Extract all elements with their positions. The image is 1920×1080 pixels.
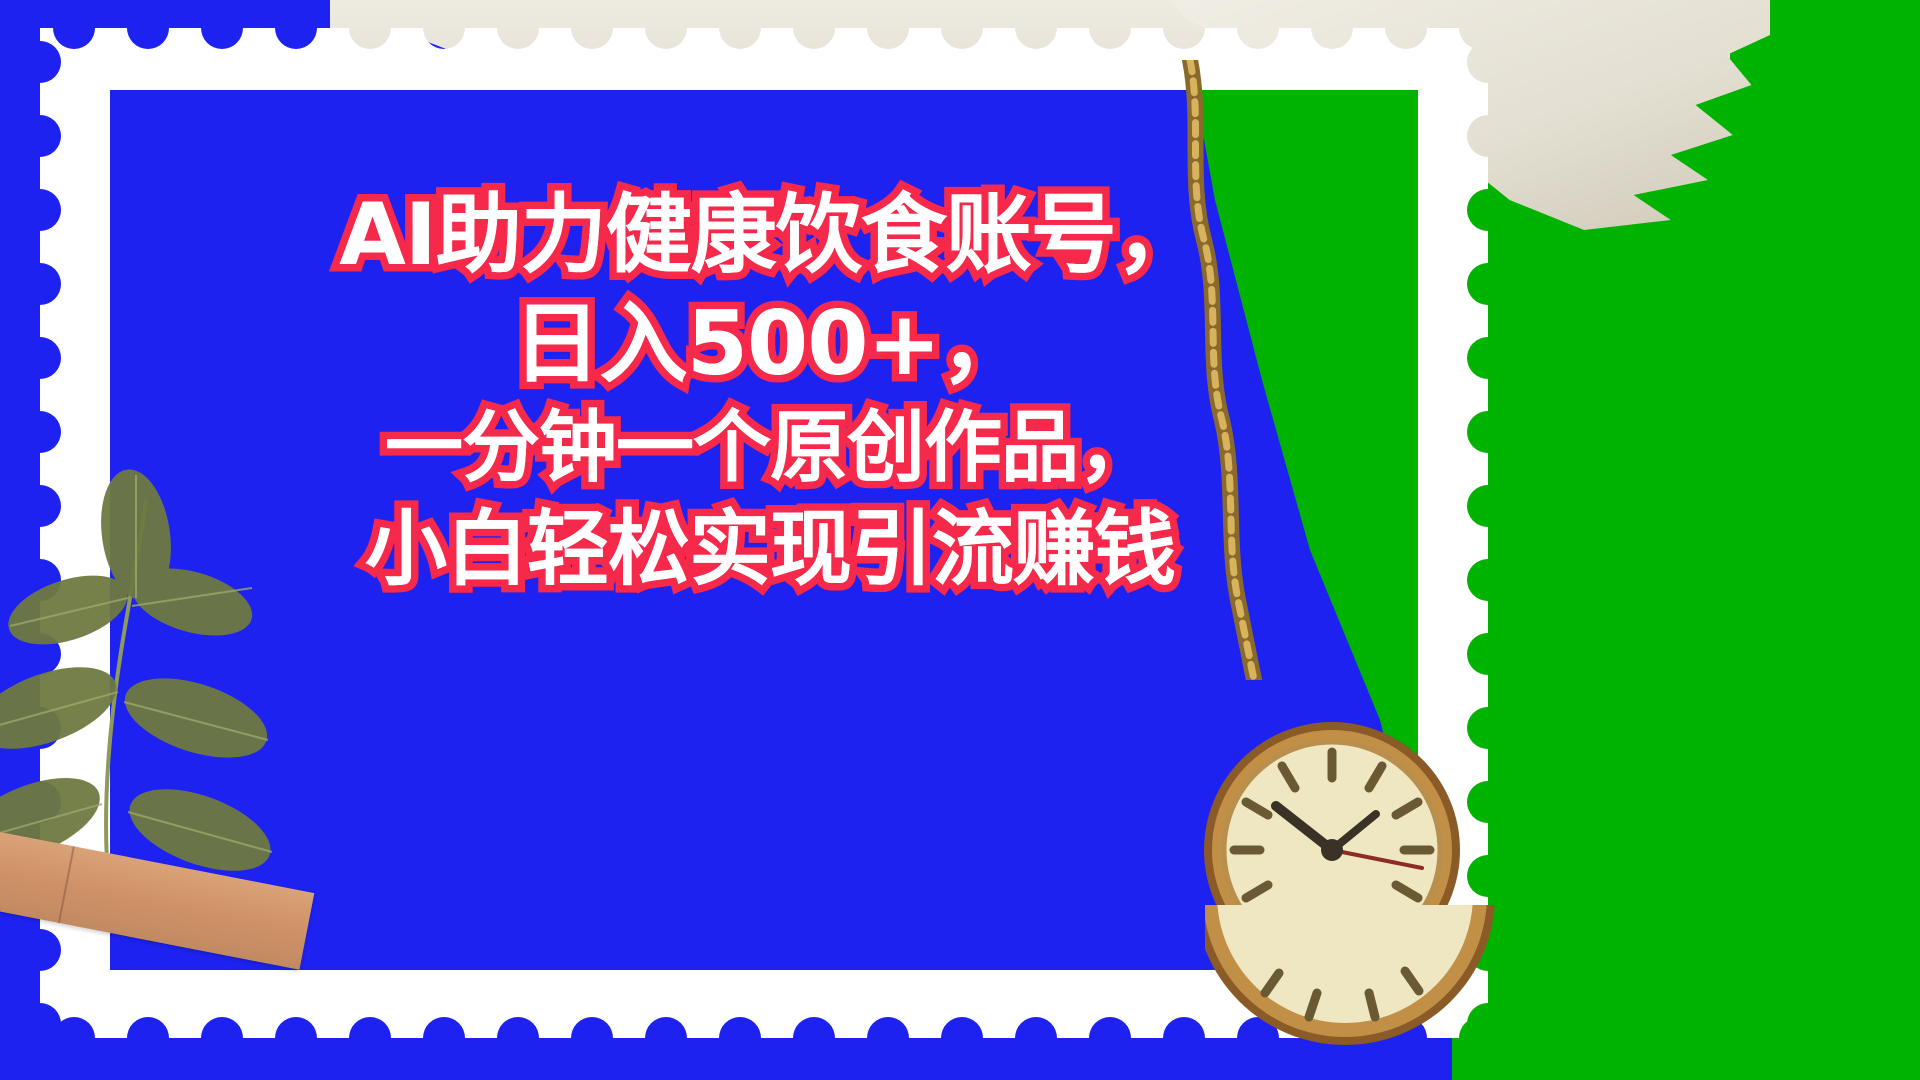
pocket-watch-lower-icon <box>1205 905 1495 1080</box>
headline-line-3: 一分钟一个原创作品， <box>190 398 1350 498</box>
headline-line-2: 日入500+， <box>190 290 1350 398</box>
headline-line-1: AI助力健康饮食账号， <box>190 180 1350 290</box>
headline-block: AI助力健康饮食账号， 日入500+， 一分钟一个原创作品， 小白轻松实现引流赚… <box>190 180 1350 602</box>
poster-canvas: AI助力健康饮食账号， 日入500+， 一分钟一个原创作品， 小白轻松实现引流赚… <box>0 0 1920 1080</box>
headline-line-4: 小白轻松实现引流赚钱 <box>190 498 1350 602</box>
